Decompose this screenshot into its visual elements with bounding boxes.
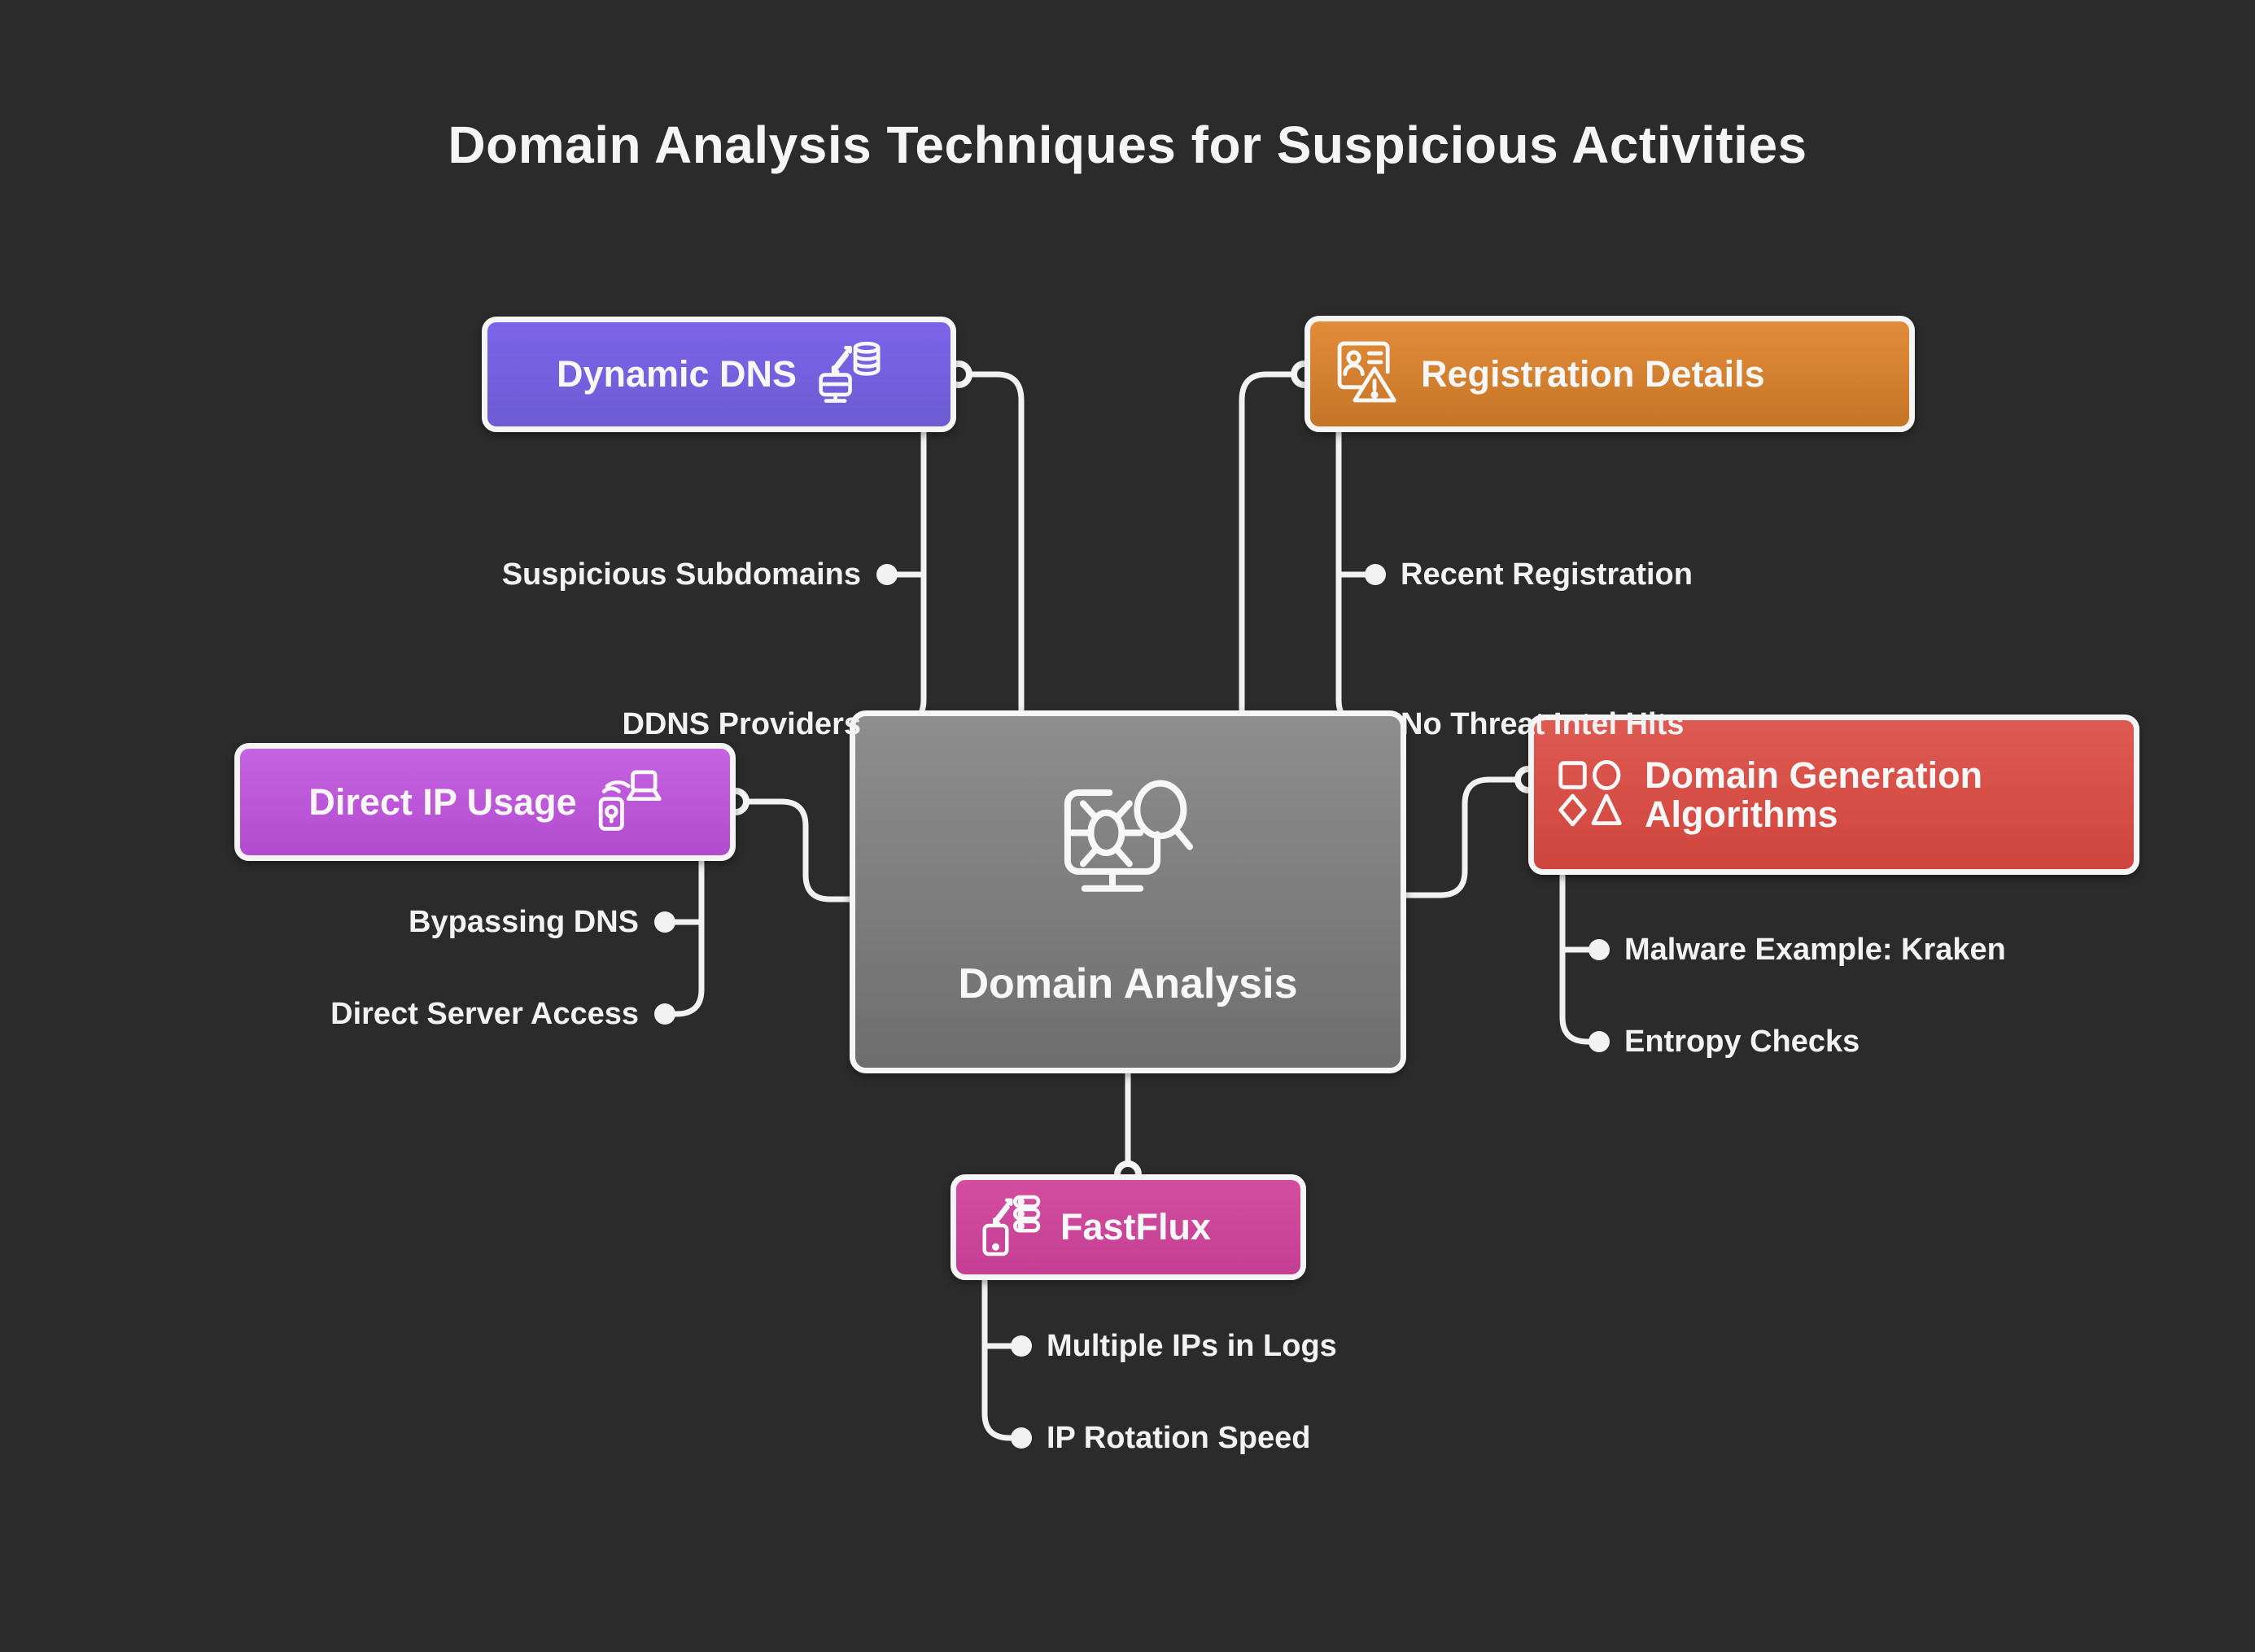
node-domain-generation-algorithms-label: Domain Generation Algorithms bbox=[1645, 756, 1982, 833]
phone-server-sync-icon bbox=[977, 1193, 1042, 1262]
center-node-label: Domain Analysis bbox=[958, 959, 1297, 1008]
dot-fastflux-child-0 bbox=[1011, 1335, 1032, 1357]
dot-dynamic-dns-child-0 bbox=[876, 564, 898, 585]
dot-registration-details-child-0 bbox=[1365, 564, 1386, 585]
node-fastflux[interactable]: FastFlux bbox=[951, 1174, 1306, 1280]
sub-item-ip-rotation-speed[interactable]: IP Rotation Speed bbox=[1047, 1423, 1310, 1453]
node-registration-details-label: Registration Details bbox=[1421, 355, 1765, 394]
monitor-database-sync-icon bbox=[815, 339, 881, 410]
dot-direct-ip-usage-child-0 bbox=[654, 911, 675, 933]
wire-registration-details bbox=[1242, 374, 1295, 710]
node-registration-details[interactable]: Registration Details bbox=[1304, 316, 1915, 432]
node-dynamic-dns[interactable]: Dynamic DNS bbox=[482, 317, 956, 432]
wire-fastflux-child-0 bbox=[985, 1280, 1021, 1346]
sub-item-no-threat-intel-hits[interactable]: No Threat Intel Hits bbox=[1401, 709, 1684, 740]
node-direct-ip-usage-label: Direct IP Usage bbox=[308, 783, 576, 822]
dot-fastflux-child-1 bbox=[1011, 1427, 1032, 1449]
sub-item-entropy-checks[interactable]: Entropy Checks bbox=[1624, 1026, 1860, 1057]
id-card-warning-icon bbox=[1333, 337, 1403, 411]
wire-domain-generation-algorithms bbox=[1406, 780, 1519, 895]
sub-item-ddns-providers[interactable]: DDNS Providers bbox=[622, 709, 861, 740]
center-node[interactable]: Domain Analysis bbox=[850, 710, 1406, 1073]
dot-direct-ip-usage-child-1 bbox=[654, 1003, 675, 1025]
wire-direct-ip-usage-child-0 bbox=[665, 861, 701, 922]
node-dynamic-dns-label: Dynamic DNS bbox=[557, 355, 797, 394]
page-title: Domain Analysis Techniques for Suspiciou… bbox=[0, 116, 2255, 173]
dot-domain-generation-algorithms-child-0 bbox=[1589, 939, 1610, 960]
wire-domain-generation-algorithms-child-1 bbox=[1562, 950, 1599, 1042]
sub-item-recent-registration[interactable]: Recent Registration bbox=[1401, 559, 1693, 590]
wire-direct-ip-usage-child-1 bbox=[665, 922, 701, 1014]
wire-dynamic-dns-child-0 bbox=[887, 432, 924, 575]
node-fastflux-label: FastFlux bbox=[1060, 1208, 1211, 1247]
wire-fastflux-child-1 bbox=[985, 1346, 1021, 1438]
wire-dynamic-dns bbox=[968, 374, 1021, 710]
wire-registration-details-child-0 bbox=[1339, 432, 1375, 575]
wire-dynamic-dns-child-1 bbox=[887, 575, 924, 724]
wire-registration-details-child-1 bbox=[1339, 575, 1375, 724]
monitor-bug-magnifier-icon bbox=[1051, 776, 1205, 922]
node-direct-ip-usage[interactable]: Direct IP Usage bbox=[234, 743, 736, 861]
wire-domain-generation-algorithms-child-0 bbox=[1562, 875, 1599, 950]
sub-item-direct-server-access[interactable]: Direct Server Access bbox=[330, 999, 639, 1029]
wire-direct-ip-usage bbox=[746, 802, 850, 899]
shapes-icon bbox=[1555, 758, 1625, 832]
sub-item-suspicious-subdomains[interactable]: Suspicious Subdomains bbox=[502, 559, 861, 590]
sub-item-bypassing-dns[interactable]: Bypassing DNS bbox=[409, 907, 639, 937]
sub-item-malware-example-kraken[interactable]: Malware Example: Kraken bbox=[1624, 934, 2006, 965]
sub-item-multiple-ips-in-logs[interactable]: Multiple IPs in Logs bbox=[1047, 1331, 1337, 1361]
laptop-phone-wireless-icon bbox=[593, 766, 662, 838]
dot-domain-generation-algorithms-child-1 bbox=[1589, 1031, 1610, 1052]
